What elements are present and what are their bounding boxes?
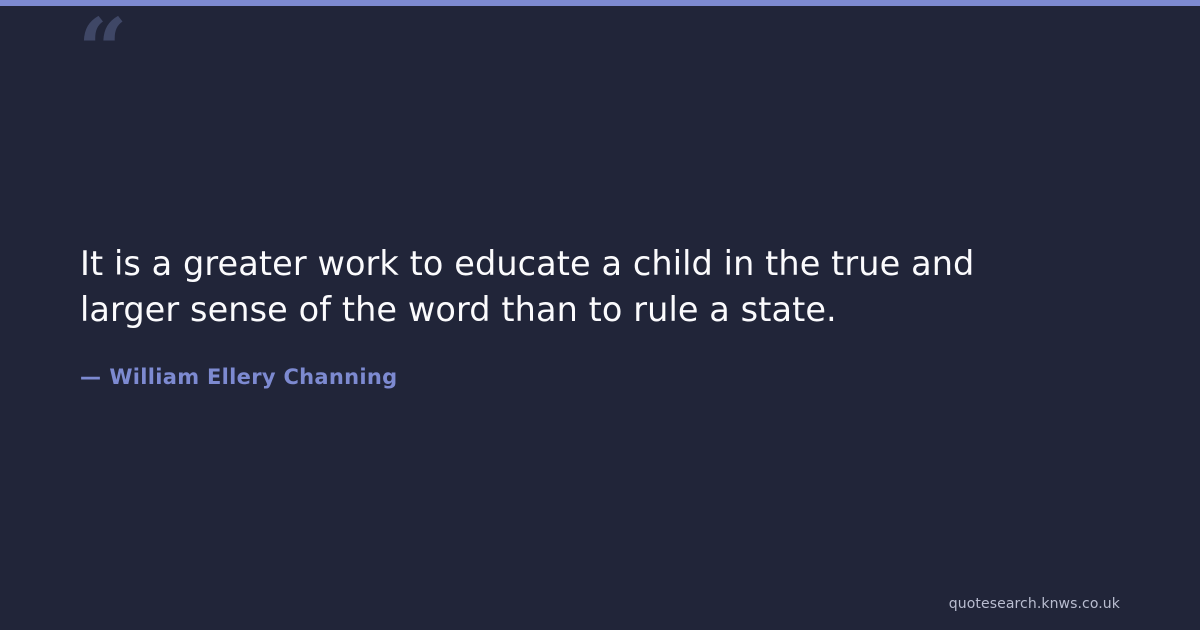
site-watermark: quotesearch.knws.co.uk [949,596,1120,612]
attribution-author: William Ellery Channing [109,365,397,389]
quote-card: “ It is a greater work to educate a chil… [0,0,1200,630]
quote-text: It is a greater work to educate a child … [80,241,1050,332]
attribution-dash: — [80,365,101,389]
quote-content: It is a greater work to educate a child … [80,0,1120,630]
attribution: —William Ellery Channing [80,365,1120,389]
